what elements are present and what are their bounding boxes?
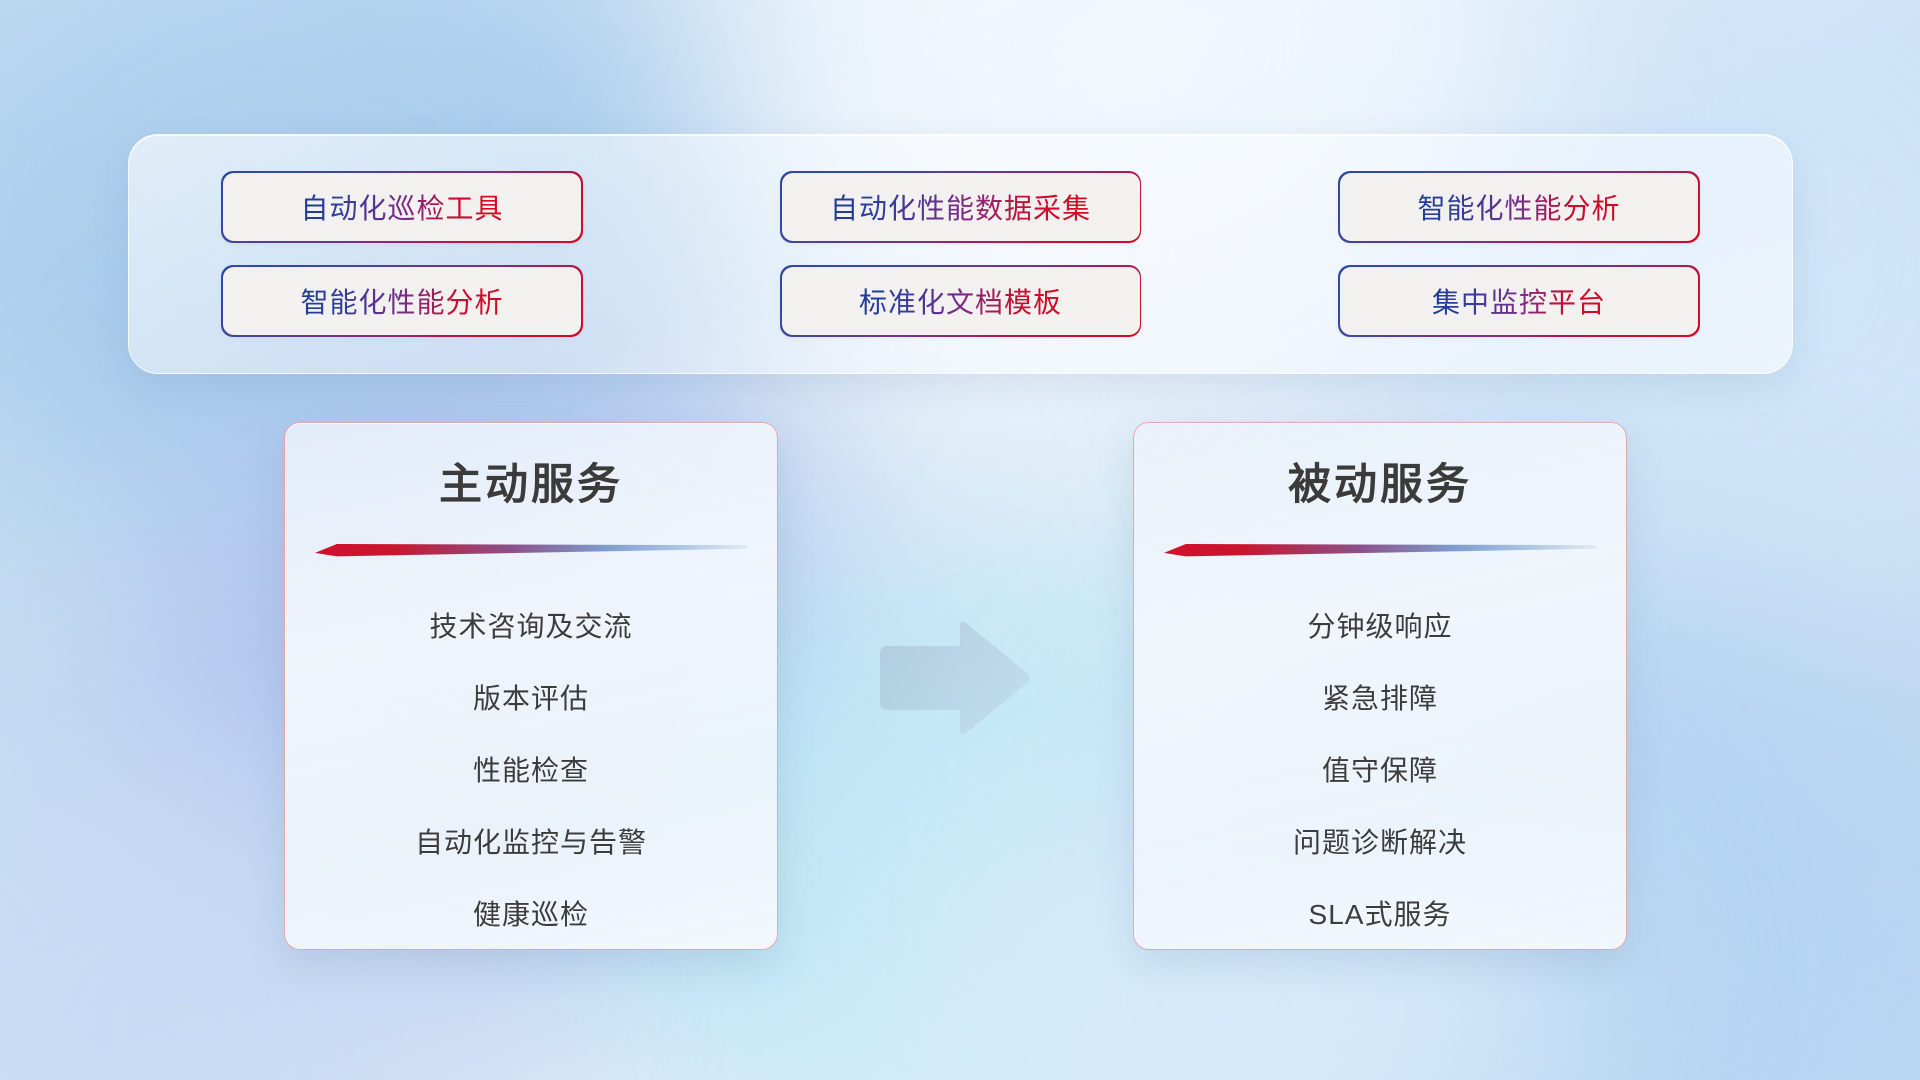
card-divider	[315, 539, 747, 561]
tag-chip[interactable]: 集中监控平台	[1340, 267, 1698, 335]
tag-label: 智能化性能分析	[300, 281, 503, 321]
tag-chip[interactable]: 标准化文档模板	[782, 267, 1140, 335]
tag-row-2: 智能化性能分析 标准化文档模板 集中监控平台	[223, 267, 1698, 335]
card-item-list: 技术咨询及交流 版本评估 性能检查 自动化监控与告警 健康巡检	[315, 591, 747, 951]
card-divider	[1164, 539, 1596, 561]
list-item: 健康巡检	[473, 879, 589, 951]
tag-label: 自动化性能数据采集	[830, 187, 1091, 227]
tag-chip[interactable]: 自动化性能数据采集	[782, 173, 1140, 241]
tag-row-1: 自动化巡检工具 自动化性能数据采集 智能化性能分析	[223, 173, 1698, 241]
list-item: 性能检查	[473, 735, 589, 807]
tag-chip[interactable]: 智能化性能分析	[223, 267, 581, 335]
card-title: 被动服务	[1288, 459, 1472, 513]
list-item: 值守保障	[1322, 735, 1438, 807]
list-item: 自动化监控与告警	[415, 807, 647, 879]
tag-label: 集中监控平台	[1432, 281, 1606, 321]
list-item: 技术咨询及交流	[429, 591, 632, 663]
tag-chip[interactable]: 智能化性能分析	[1340, 173, 1698, 241]
list-item: SLA式服务	[1309, 879, 1452, 951]
right-arrow-icon	[874, 620, 1034, 736]
service-card-reactive: 被动服务 分钟级响应 紧急排障 值守保障 问题诊断解决 SLA式服务	[1133, 422, 1627, 950]
list-item: 分钟级响应	[1307, 591, 1452, 663]
service-card-proactive: 主动服务 技术咨询及交流 版本评估 性能检查 自动化监控与告警 健康巡检	[284, 422, 778, 950]
tag-label: 标准化文档模板	[859, 281, 1062, 321]
card-item-list: 分钟级响应 紧急排障 值守保障 问题诊断解决 SLA式服务	[1164, 591, 1596, 951]
tag-label: 自动化巡检工具	[300, 187, 503, 227]
tag-label: 智能化性能分析	[1417, 187, 1620, 227]
tag-chip[interactable]: 自动化巡检工具	[223, 173, 581, 241]
list-item: 紧急排障	[1322, 663, 1438, 735]
capability-tag-panel: 自动化巡检工具 自动化性能数据采集 智能化性能分析 智能化性能分析 标准化文档模…	[128, 134, 1793, 374]
card-title: 主动服务	[439, 459, 623, 513]
list-item: 版本评估	[473, 663, 589, 735]
list-item: 问题诊断解决	[1293, 807, 1467, 879]
